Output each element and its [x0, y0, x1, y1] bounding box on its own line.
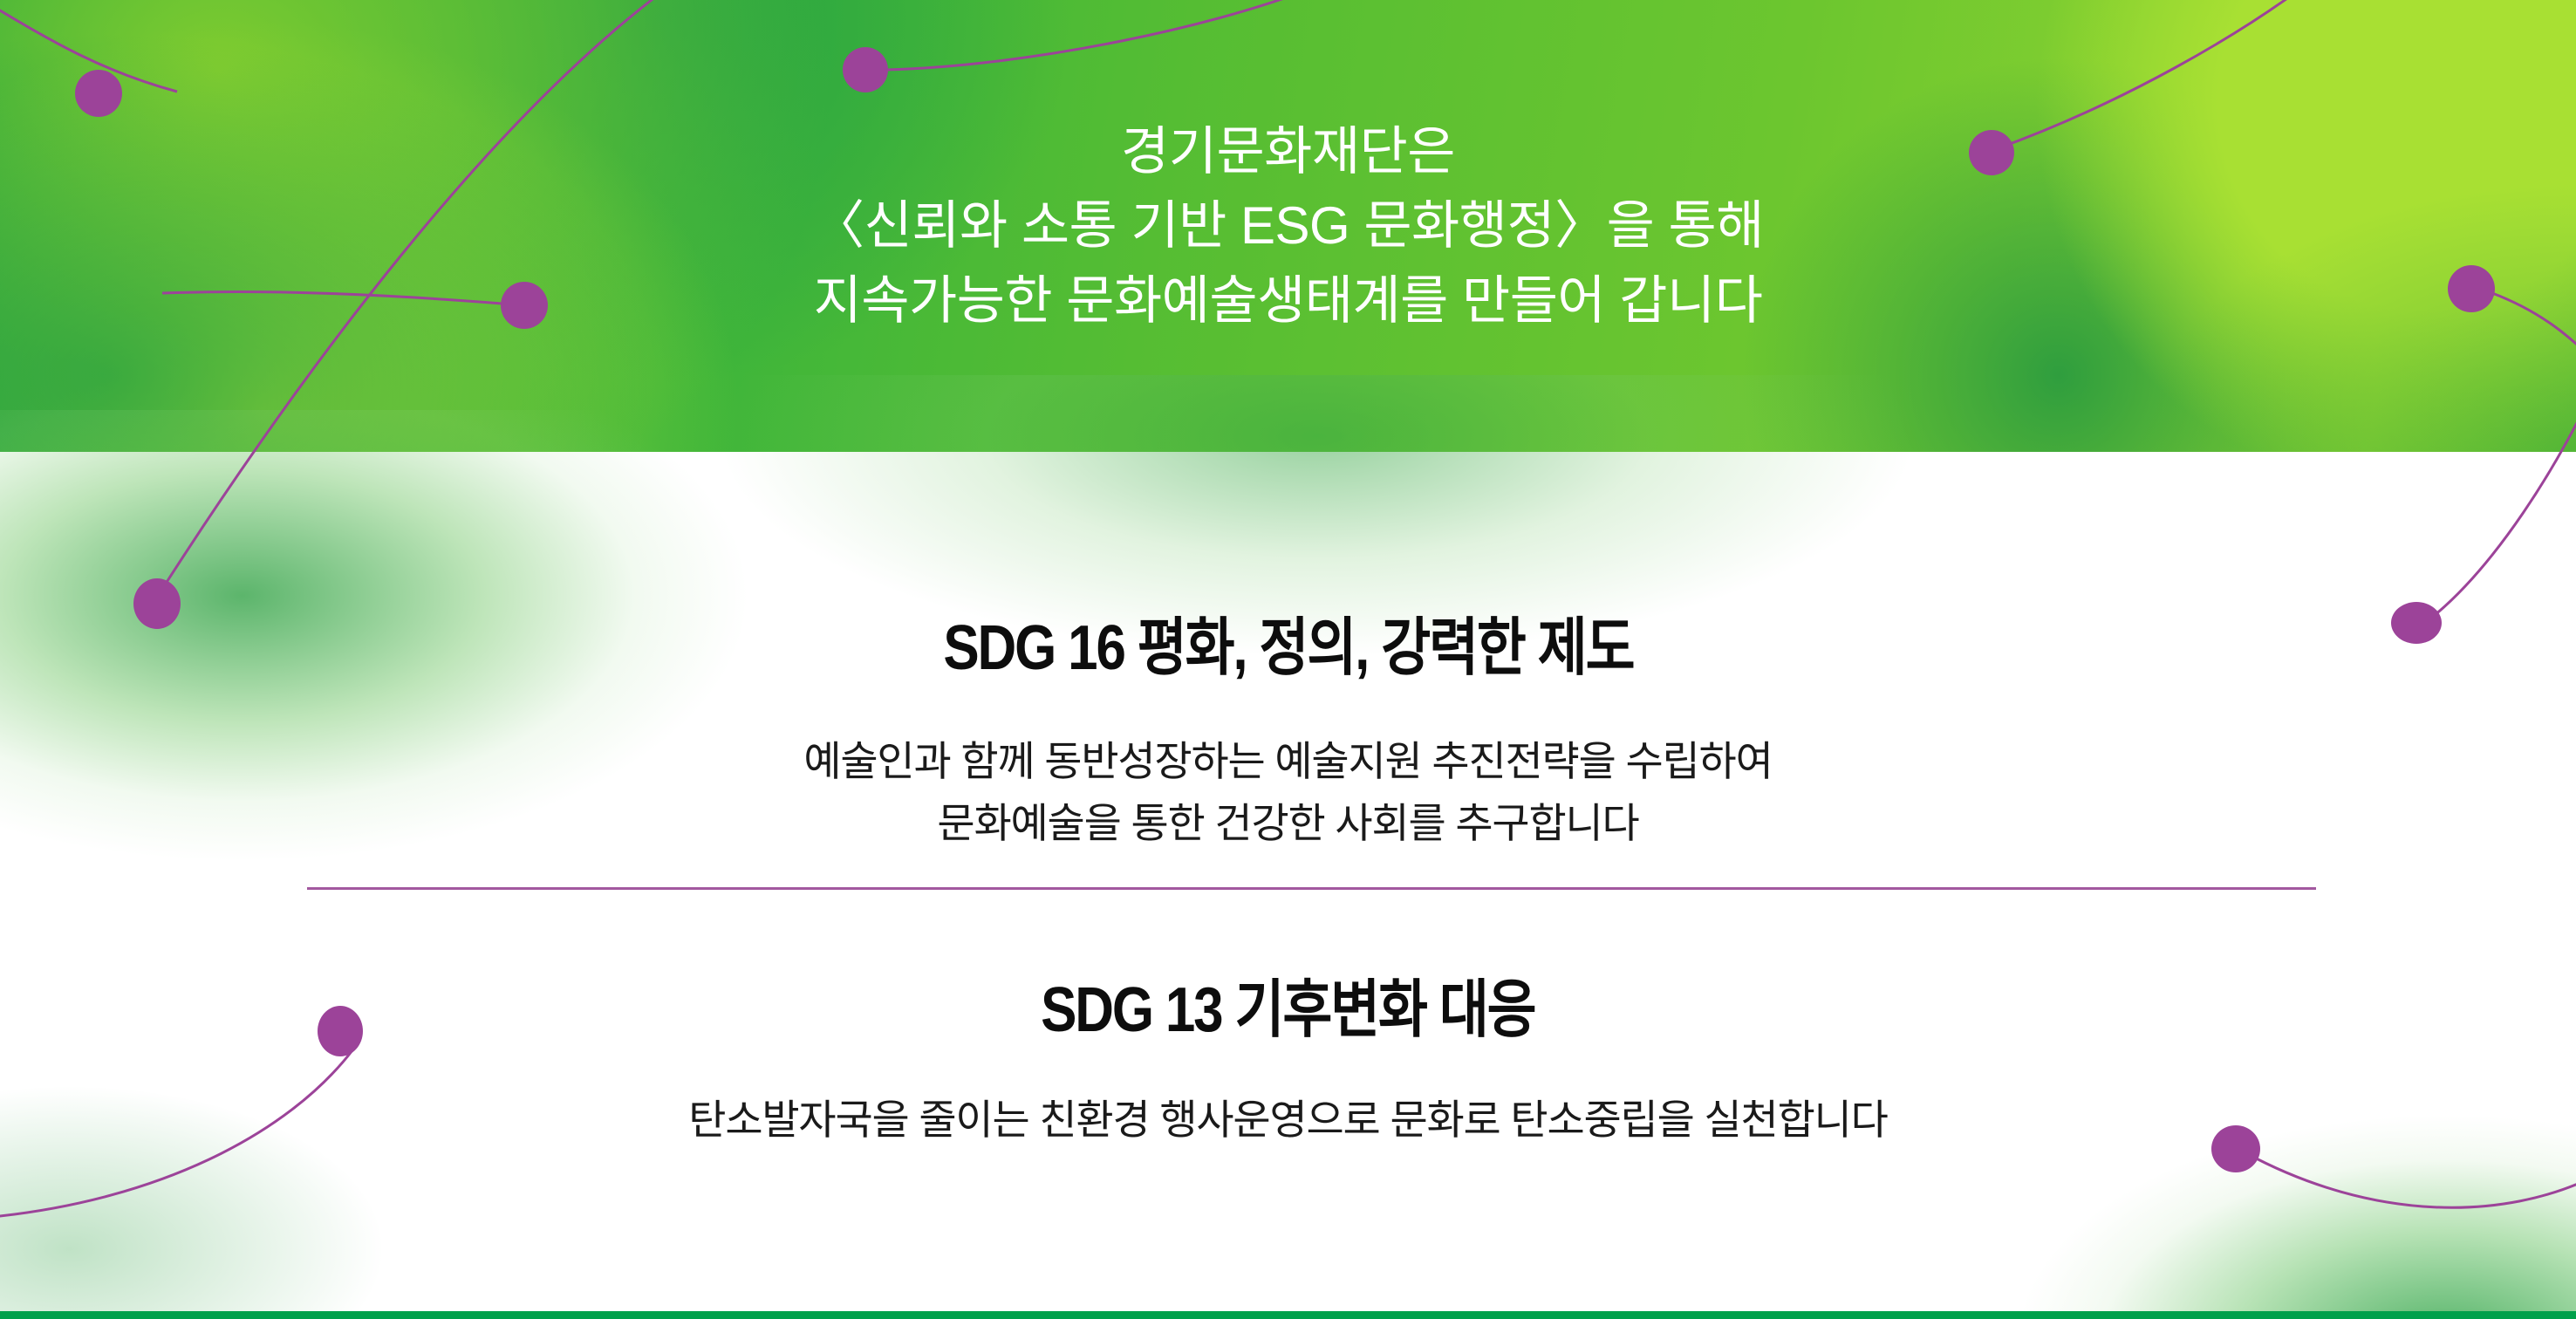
bottom-accent-bar: [0, 1311, 2576, 1319]
sdg-section-16: SDG 16 평화, 정의, 강력한 제도 예술인과 함께 동반성장하는 예술지…: [0, 452, 2576, 854]
header-line-1: 경기문화재단은: [1121, 114, 1455, 188]
sdg-section-13: SDG 13 기후변화 대응 탄소발자국을 줄이는 친환경 행사운영으로 문화로…: [0, 958, 2576, 1152]
sdg-sections: SDG 16 평화, 정의, 강력한 제도 예술인과 함께 동반성장하는 예술지…: [0, 452, 2576, 1311]
header-line-2: 〈신뢰와 소통 기반 ESG 문화행정〉을 통해: [812, 188, 1764, 263]
banner-canvas: 경기문화재단은 〈신뢰와 소통 기반 ESG 문화행정〉을 통해 지속가능한 문…: [0, 0, 2576, 1319]
sdg13-description-line-1: 탄소발자국을 줄이는 친환경 행사운영으로 문화로 탄소중립을 실천합니다: [688, 1090, 1887, 1152]
section-divider: [307, 887, 2316, 890]
sdg16-heading: SDG 16 평화, 정의, 강력한 제도: [943, 596, 1633, 687]
sdg13-heading: SDG 13 기후변화 대응: [1041, 958, 1534, 1049]
sdg16-description-line-2: 문화예술을 통한 건강한 사회를 추구합니다: [803, 793, 1772, 855]
header-statement: 경기문화재단은 〈신뢰와 소통 기반 ESG 문화행정〉을 통해 지속가능한 문…: [0, 0, 2576, 452]
header-line-3: 지속가능한 문화예술생태계를 만들어 갑니다: [814, 263, 1763, 338]
sdg16-description: 예술인과 함께 동반성장하는 예술지원 추진전략을 수립하여 문화예술을 통한 …: [803, 731, 1772, 854]
sdg16-description-line-1: 예술인과 함께 동반성장하는 예술지원 추진전략을 수립하여: [803, 731, 1772, 793]
sdg13-description: 탄소발자국을 줄이는 친환경 행사운영으로 문화로 탄소중립을 실천합니다: [688, 1090, 1887, 1152]
